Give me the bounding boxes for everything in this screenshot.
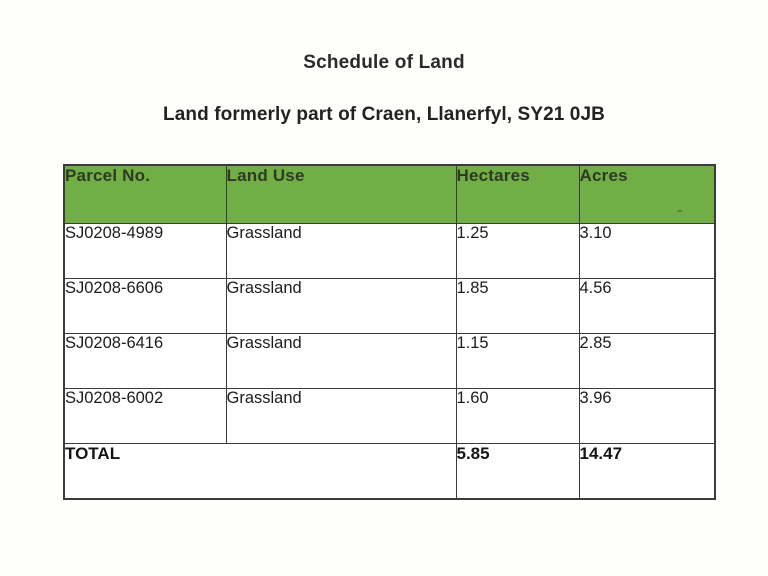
cell-hectares: 1.85 [456,279,579,334]
column-header-parcel-no: Parcel No. [64,165,226,224]
schedule-of-land-table: Parcel No. Land Use Hectares Acres [63,164,716,500]
cell-total-hectares-value: 5.85 [457,444,579,464]
cell-parcel-no: SJ0208-4989 [64,224,226,279]
column-header-land-use: Land Use [226,165,456,224]
cell-land-use: Grassland [226,224,456,279]
cell-total-label-value: TOTAL [65,444,456,464]
cell-total-label: TOTAL [64,444,456,500]
cell-acres-value: 3.10 [580,224,715,243]
cell-acres-value: 4.56 [580,279,715,298]
cell-parcel-no-value: SJ0208-4989 [65,224,226,243]
cell-land-use: Grassland [226,389,456,444]
cell-land-use: Grassland [226,279,456,334]
table-header-row: Parcel No. Land Use Hectares Acres [64,165,715,224]
table-body: SJ0208-4989 Grassland 1.25 3.10 SJ0208-6… [64,224,715,500]
page-subtitle: Land formerly part of Craen, Llanerfyl, … [0,75,768,127]
cell-parcel-no: SJ0208-6002 [64,389,226,444]
cell-land-use-value: Grassland [227,279,456,298]
cell-total-hectares: 5.85 [456,444,579,500]
cell-parcel-no-value: SJ0208-6002 [65,389,226,408]
cell-parcel-no-value: SJ0208-6606 [65,279,226,298]
scan-speck-mark [677,210,682,212]
title-block: Schedule of Land Land formerly part of C… [0,52,768,127]
cell-hectares-value: 1.15 [457,334,579,353]
column-header-acres-label: Acres [580,166,715,186]
table-row: SJ0208-6606 Grassland 1.85 4.56 [64,279,715,334]
cell-acres: 3.10 [579,224,715,279]
document-page: Schedule of Land Land formerly part of C… [0,0,768,576]
table-total-row: TOTAL 5.85 14.47 [64,444,715,500]
cell-land-use-value: Grassland [227,334,456,353]
cell-parcel-no-value: SJ0208-6416 [65,334,226,353]
cell-acres: 3.96 [579,389,715,444]
cell-hectares-value: 1.85 [457,279,579,298]
cell-land-use: Grassland [226,334,456,389]
cell-parcel-no: SJ0208-6606 [64,279,226,334]
cell-total-acres: 14.47 [579,444,715,500]
cell-acres-value: 3.96 [580,389,715,408]
cell-hectares: 1.25 [456,224,579,279]
table-header: Parcel No. Land Use Hectares Acres [64,165,715,224]
cell-total-acres-value: 14.47 [580,444,715,464]
cell-hectares-value: 1.60 [457,389,579,408]
cell-land-use-value: Grassland [227,389,456,408]
column-header-acres: Acres [579,165,715,224]
column-header-land-use-label: Land Use [227,166,456,186]
cell-hectares: 1.15 [456,334,579,389]
column-header-hectares: Hectares [456,165,579,224]
table-row: SJ0208-4989 Grassland 1.25 3.10 [64,224,715,279]
cell-land-use-value: Grassland [227,224,456,243]
cell-acres: 4.56 [579,279,715,334]
cell-parcel-no: SJ0208-6416 [64,334,226,389]
page-title: Schedule of Land [0,52,768,75]
table-row: SJ0208-6002 Grassland 1.60 3.96 [64,389,715,444]
cell-hectares: 1.60 [456,389,579,444]
table-row: SJ0208-6416 Grassland 1.15 2.85 [64,334,715,389]
column-header-parcel-no-label: Parcel No. [65,166,226,186]
cell-acres: 2.85 [579,334,715,389]
column-header-hectares-label: Hectares [457,166,579,186]
cell-hectares-value: 1.25 [457,224,579,243]
cell-acres-value: 2.85 [580,334,715,353]
schedule-table-wrapper: Parcel No. Land Use Hectares Acres [63,164,714,500]
